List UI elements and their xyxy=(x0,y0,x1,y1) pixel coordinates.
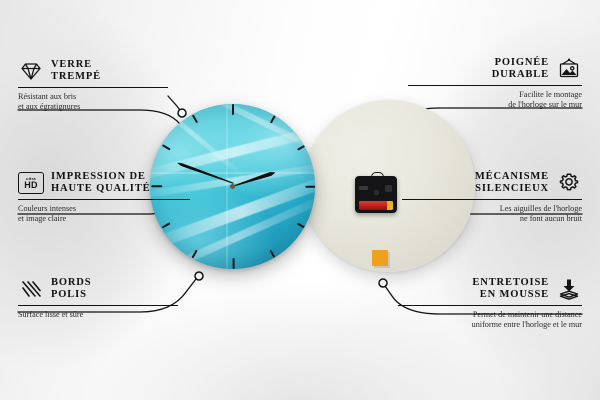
clock-tick xyxy=(233,187,235,270)
infographic-canvas: VERRETREMPÉ Résistant aux briset aux égr… xyxy=(0,0,600,400)
mechanism-shaft xyxy=(372,188,381,197)
divider xyxy=(18,305,178,306)
ultra-hd-badge-icon: ultra HD xyxy=(18,170,44,196)
feature-mecanisme-silencieux: MÉCANISMESILENCIEUX Les aiguilles de l'h… xyxy=(382,170,582,224)
feature-verre-trempe: VERRETREMPÉ Résistant aux briset aux égr… xyxy=(18,58,218,112)
feature-title: POIGNÉEDURABLE xyxy=(492,57,549,82)
foam-spacer-pad xyxy=(372,250,388,266)
feature-description: Permet de maintenir une distanceuniforme… xyxy=(382,310,582,330)
divider xyxy=(408,85,582,86)
clock-tick xyxy=(233,104,235,187)
feature-description: Couleurs intenseset image claire xyxy=(18,204,218,224)
feature-poignee-durable: POIGNÉEDURABLE Facilite le montagede l'h… xyxy=(382,56,582,110)
divider xyxy=(18,199,190,200)
feature-title: ENTRETOISEEN MOUSSE xyxy=(472,277,549,302)
hd-badge-main-label: HD xyxy=(24,181,37,190)
hand-center-cap xyxy=(230,184,235,189)
foam-spacer-icon xyxy=(556,276,582,302)
feature-bords-polis: BORDSPOLIS Surface lisse et sûre xyxy=(18,276,218,320)
divider xyxy=(402,199,582,200)
polished-edges-icon xyxy=(18,276,44,302)
feature-title: VERRETREMPÉ xyxy=(51,59,101,84)
feature-impression-haute-qualite: ultra HD IMPRESSION DEHAUTE QUALITÉ Coul… xyxy=(18,170,218,224)
diamond-icon xyxy=(18,58,44,84)
divider xyxy=(398,305,582,306)
feature-entretoise-en-mousse: ENTRETOISEEN MOUSSE Permet de maintenir … xyxy=(382,276,582,330)
divider xyxy=(18,87,168,88)
feature-title: IMPRESSION DEHAUTE QUALITÉ xyxy=(51,171,150,196)
feature-description: Résistant aux briset aux égratignures xyxy=(18,92,218,112)
feature-title: MÉCANISMESILENCIEUX xyxy=(475,171,549,196)
clock-tick xyxy=(233,186,315,188)
picture-hanger-icon xyxy=(556,56,582,82)
feature-description: Surface lisse et sûre xyxy=(18,310,218,320)
mechanism-detail xyxy=(359,186,368,190)
gear-icon xyxy=(556,170,582,196)
feature-description: Les aiguilles de l'horlogene font aucun … xyxy=(382,204,582,224)
feature-description: Facilite le montagede l'horloge sur le m… xyxy=(382,90,582,110)
feature-title: BORDSPOLIS xyxy=(51,277,91,302)
